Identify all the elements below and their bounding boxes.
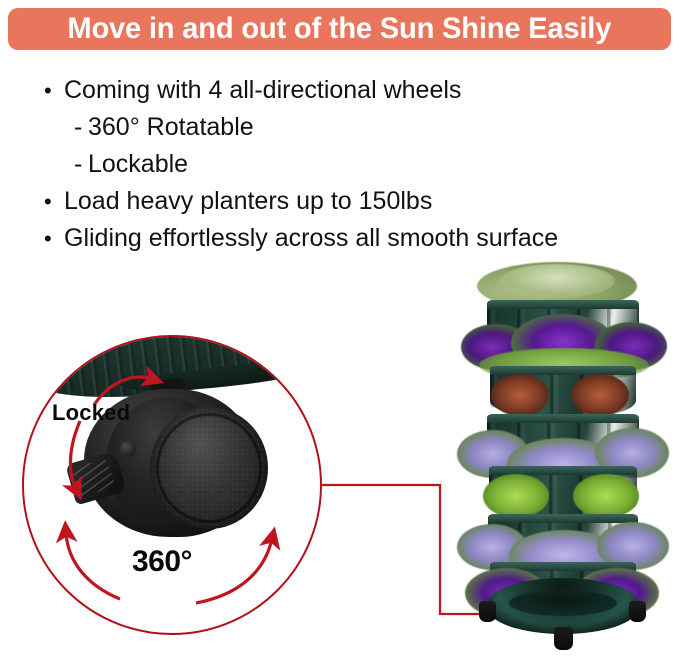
- dash-icon: -: [74, 109, 88, 146]
- bullet-icon: •: [44, 183, 64, 220]
- foliage-white-groundcover-highlight: [499, 264, 615, 298]
- rotation-degrees-label: 360°: [132, 545, 192, 579]
- list-item: -360° Rotatable: [44, 109, 674, 146]
- list-item-label: Load heavy planters up to 150lbs: [64, 187, 432, 215]
- feature-list: •Coming with 4 all-directional wheels -3…: [44, 72, 674, 257]
- foliage-green-lettuce-left: [483, 474, 549, 518]
- list-item-label: Lockable: [88, 150, 188, 178]
- rotate-right-arrow: [196, 539, 272, 603]
- list-item-label: Coming with 4 all-directional wheels: [64, 76, 461, 104]
- header-banner: Move in and out of the Sun Shine Easily: [8, 8, 671, 50]
- caster-zoom-callout: Locked 360°: [22, 335, 322, 635]
- list-item: -Lockable: [44, 146, 674, 183]
- dash-icon: -: [74, 146, 88, 183]
- list-item: •Coming with 4 all-directional wheels: [44, 72, 674, 109]
- list-item-label: 360° Rotatable: [88, 113, 254, 141]
- caster-hub-bolt: [120, 441, 136, 457]
- page-title: Move in and out of the Sun Shine Easily: [68, 14, 612, 44]
- bullet-icon: •: [44, 72, 64, 109]
- list-item-label: Gliding effortlessly across all smooth s…: [64, 224, 558, 252]
- list-item: •Load heavy planters up to 150lbs: [44, 183, 674, 220]
- foliage-bronze-cordyline-left: [491, 374, 549, 416]
- caster-wheel-rim: [156, 413, 262, 523]
- list-item: •Gliding effortlessly across all smooth …: [44, 220, 674, 257]
- callout-circle: Locked 360°: [22, 335, 322, 635]
- rotate-left-arrow: [66, 533, 120, 599]
- base-caster-front: [554, 627, 573, 650]
- foliage-green-lettuce-right: [573, 474, 639, 518]
- bullet-icon: •: [44, 220, 64, 257]
- planter-tower-image: [455, 262, 670, 652]
- base-caster-right: [629, 601, 646, 622]
- base-caster-left: [479, 601, 496, 622]
- planter-base-tray-inner: [509, 590, 617, 616]
- locked-label: Locked: [52, 400, 130, 426]
- foliage-bronze-cordyline-right: [571, 374, 629, 416]
